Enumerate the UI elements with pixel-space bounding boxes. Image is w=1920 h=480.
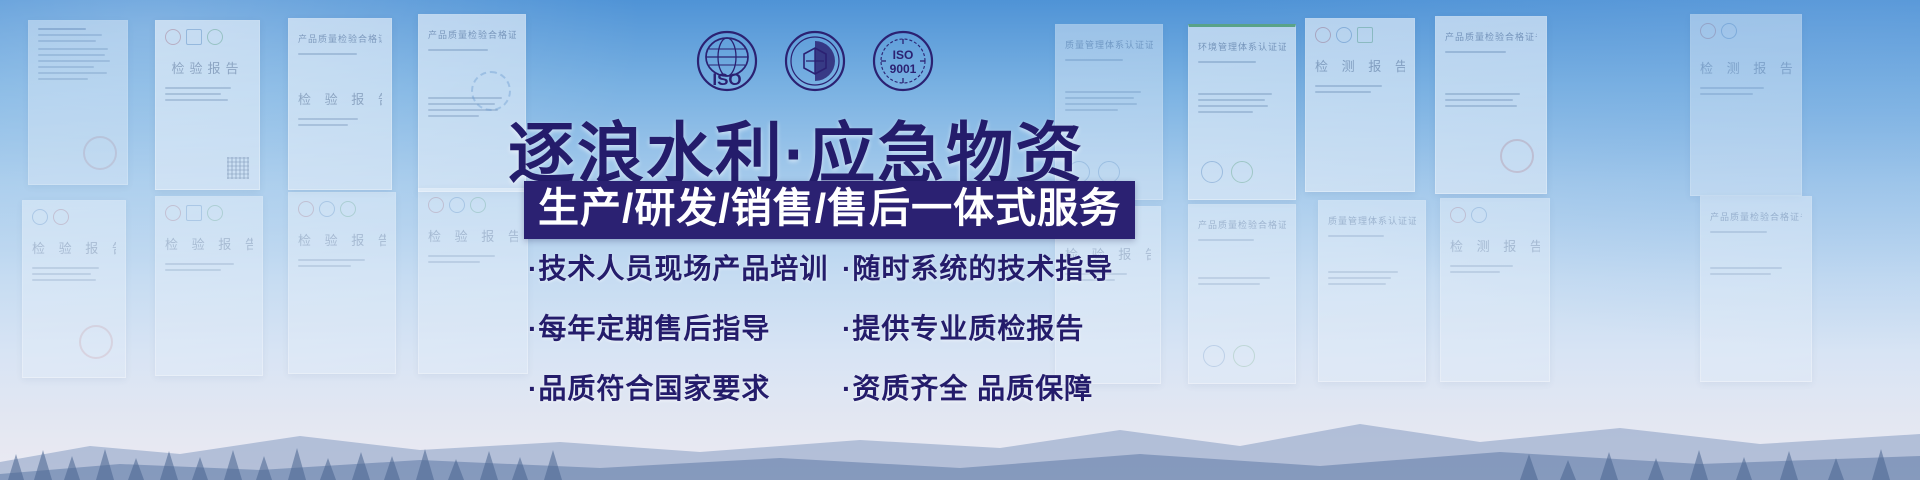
certificate-thumb: 检验报告 (155, 20, 260, 190)
list-item: ·随时系统的技术指导 (842, 247, 1113, 287)
certificate-thumb: 检 验 报 告 (418, 188, 528, 374)
list-item: ·资质齐全 品质保障 (842, 367, 1113, 407)
certificate-thumb: 检 验 报 告 (288, 192, 396, 374)
certificate-thumb (28, 20, 128, 185)
iso-9001-badge: ISO 9001 (872, 30, 934, 92)
certificate-thumb: 检 验 报 告 (155, 196, 263, 376)
svg-text:ISO: ISO (893, 48, 914, 62)
certification-badges: ISO ISO 9001 (696, 30, 934, 92)
certificate-thumb: 产品质量检验合格证书 检 验 报 告 (288, 18, 392, 190)
certificate-thumb: 环境管理体系认证证书 (1188, 24, 1296, 200)
promo-banner: 检验报告 产品质量检验合格证书 检 验 报 告 产品质量检验合格证书 (0, 0, 1920, 480)
iso-badge-label: ISO (712, 70, 741, 89)
svg-text:9001: 9001 (890, 62, 917, 76)
feature-list: ·技术人员现场产品培训 ·随时系统的技术指导 ·每年定期售后指导 ·提供专业质检… (528, 247, 1113, 407)
certificate-thumb: 产品质量检验合格证书 (1435, 16, 1547, 194)
subtitle-banner: 生产/研发/销售/售后一体式服务 (524, 181, 1135, 239)
certificate-thumb: 检 测 报 告 (1305, 18, 1415, 192)
china-quality-badge (784, 30, 846, 92)
list-item: ·技术人员现场产品培训 (528, 247, 820, 287)
list-item: ·品质符合国家要求 (528, 367, 820, 407)
list-item: ·每年定期售后指导 (528, 307, 820, 347)
certificate-thumb: 检 测 报 告 (1690, 14, 1802, 196)
iso-badge: ISO (696, 30, 758, 92)
list-item: ·提供专业质检报告 (842, 307, 1113, 347)
